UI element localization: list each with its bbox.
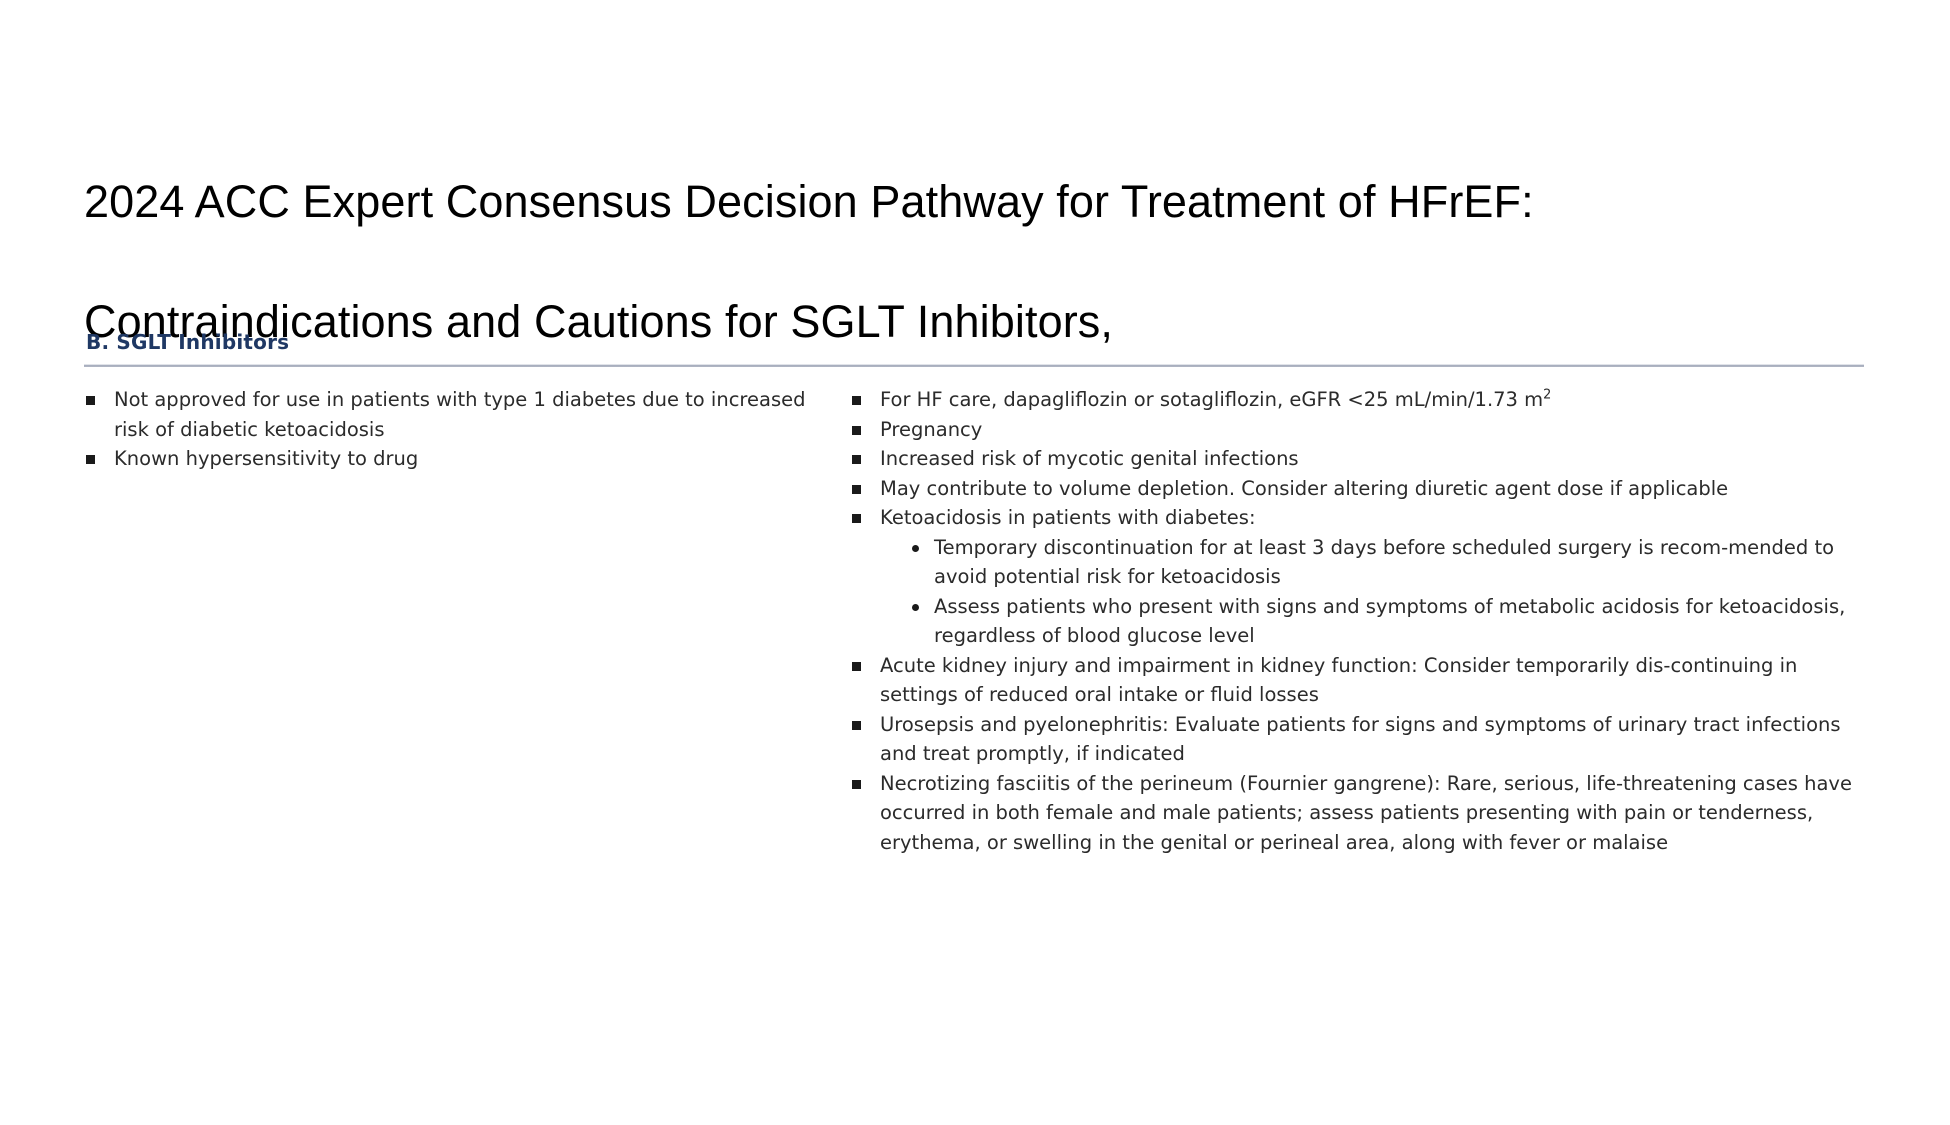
bullet-text-main: For HF care, dapagliflozin or sotagliflo… bbox=[880, 388, 1543, 411]
two-column-body: Not approved for use in patients with ty… bbox=[84, 385, 1864, 857]
list-item: Urosepsis and pyelonephritis: Evaluate p… bbox=[850, 710, 1864, 769]
list-item: Not approved for use in patients with ty… bbox=[84, 385, 826, 444]
bullet-text: Necrotizing fasciitis of the perineum (F… bbox=[880, 769, 1864, 858]
bullet-text-superscript: 2 bbox=[1543, 388, 1551, 403]
square-bullet-icon bbox=[852, 426, 861, 435]
round-bullet-icon bbox=[912, 545, 919, 552]
list-item: Acute kidney injury and impairment in ki… bbox=[850, 651, 1864, 710]
square-bullet-icon bbox=[852, 396, 861, 405]
sub-list-item: Assess patients who present with signs a… bbox=[908, 592, 1864, 651]
sub-list-item: Temporary discontinuation for at least 3… bbox=[908, 533, 1864, 592]
list-item: Increased risk of mycotic genital infect… bbox=[850, 444, 1864, 474]
bullet-text: Not approved for use in patients with ty… bbox=[114, 385, 826, 444]
round-bullet-icon bbox=[912, 604, 919, 611]
panel-divider bbox=[84, 364, 1864, 367]
contraindications-column: Not approved for use in patients with ty… bbox=[84, 385, 826, 474]
square-bullet-icon bbox=[852, 721, 861, 730]
bullet-text: For HF care, dapagliflozin or sotagliflo… bbox=[880, 385, 1864, 415]
bullet-text: Ketoacidosis in patients with diabetes: bbox=[880, 503, 1864, 533]
sglt-inhibitors-figure: B. SGLT Inhibitors Not approved for use … bbox=[84, 330, 1864, 857]
sub-bullet-text: Assess patients who present with signs a… bbox=[934, 592, 1864, 651]
square-bullet-icon bbox=[852, 455, 861, 464]
square-bullet-icon bbox=[852, 485, 861, 494]
bullet-text: May contribute to volume depletion. Cons… bbox=[880, 474, 1864, 504]
sub-bullet-text: Temporary discontinuation for at least 3… bbox=[934, 533, 1864, 592]
list-item: For HF care, dapagliflozin or sotagliflo… bbox=[850, 385, 1864, 415]
cautions-column: For HF care, dapagliflozin or sotagliflo… bbox=[826, 385, 1864, 857]
sub-bullet-list: Temporary discontinuation for at least 3… bbox=[880, 533, 1864, 651]
square-bullet-icon bbox=[852, 780, 861, 789]
panel-heading-sglt-inhibitors: B. SGLT Inhibitors bbox=[84, 330, 1864, 354]
slide-canvas: 2024 ACC Expert Consensus Decision Pathw… bbox=[0, 0, 1950, 1125]
bullet-text: Urosepsis and pyelonephritis: Evaluate p… bbox=[880, 710, 1864, 769]
bullet-text: Known hypersensitivity to drug bbox=[114, 444, 826, 474]
bullet-text: Acute kidney injury and impairment in ki… bbox=[880, 651, 1864, 710]
list-item: May contribute to volume depletion. Cons… bbox=[850, 474, 1864, 504]
list-item: Known hypersensitivity to drug bbox=[84, 444, 826, 474]
list-item: Necrotizing fasciitis of the perineum (F… bbox=[850, 769, 1864, 858]
square-bullet-icon bbox=[852, 662, 861, 671]
square-bullet-icon bbox=[852, 514, 861, 523]
list-item: Ketoacidosis in patients with diabetes: … bbox=[850, 503, 1864, 651]
left-bullet-list: Not approved for use in patients with ty… bbox=[84, 385, 826, 474]
bullet-text: Pregnancy bbox=[880, 415, 1864, 445]
right-bullet-list: For HF care, dapagliflozin or sotagliflo… bbox=[850, 385, 1864, 857]
list-item: Pregnancy bbox=[850, 415, 1864, 445]
square-bullet-icon bbox=[86, 455, 95, 464]
bullet-text: Increased risk of mycotic genital infect… bbox=[880, 444, 1864, 474]
page-title-line-1: 2024 ACC Expert Consensus Decision Pathw… bbox=[84, 172, 1784, 232]
square-bullet-icon bbox=[86, 396, 95, 405]
